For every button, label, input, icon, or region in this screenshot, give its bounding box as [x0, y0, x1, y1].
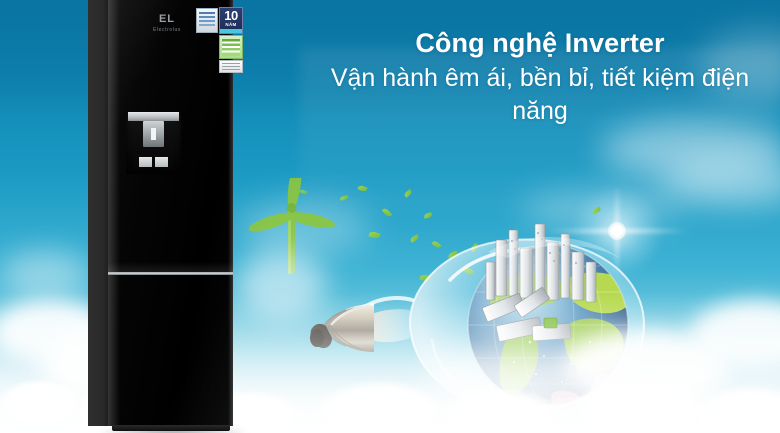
- spec-line: [222, 63, 240, 64]
- headline-block: Công nghệ Inverter Vận hành êm ái, bền b…: [300, 28, 780, 129]
- spec-line: [222, 66, 240, 67]
- dispenser-drip-tray: [134, 155, 173, 169]
- refrigerator-base: [112, 425, 230, 431]
- dispenser-nozzle-slot: [151, 128, 156, 140]
- warranty-badge: 10 NĂM: [219, 7, 243, 34]
- spec-sticker: [219, 60, 243, 73]
- green-energy-sticker: [219, 35, 243, 59]
- warranty-years-number: 10: [220, 9, 242, 22]
- refrigerator: EL Electrolux 10 NĂM: [88, 0, 233, 426]
- cloud: [0, 250, 90, 298]
- refrigerator-front-doors: [108, 0, 233, 426]
- energy-label-bars: [199, 12, 215, 29]
- green-energy-rows: [222, 39, 240, 56]
- water-dispenser[interactable]: [126, 112, 181, 174]
- dispenser-tray-grate: [155, 157, 168, 167]
- electrolux-wordmark: Electrolux: [144, 27, 190, 33]
- warranty-badge-bar: [220, 29, 242, 33]
- cloud: [236, 250, 326, 320]
- door-left-bevel: [108, 0, 120, 426]
- headline-line-1: Công nghệ Inverter: [300, 28, 780, 60]
- compartment-divider-handle[interactable]: [108, 272, 233, 275]
- headline-line-2: Vận hành êm ái, bền bỉ, tiết kiệm điện n…: [300, 62, 780, 129]
- energy-label-sticker: [196, 8, 218, 33]
- dispenser-top-trim: [128, 112, 179, 121]
- electrolux-mark: EL: [144, 14, 190, 25]
- banner-stage: Công nghệ Inverter Vận hành êm ái, bền b…: [0, 0, 780, 433]
- electrolux-logo: EL Electrolux: [144, 14, 190, 33]
- cloud: [430, 350, 580, 410]
- spec-line: [222, 69, 240, 70]
- dispenser-nozzle[interactable]: [143, 121, 164, 147]
- dispenser-tray-grate: [139, 157, 152, 167]
